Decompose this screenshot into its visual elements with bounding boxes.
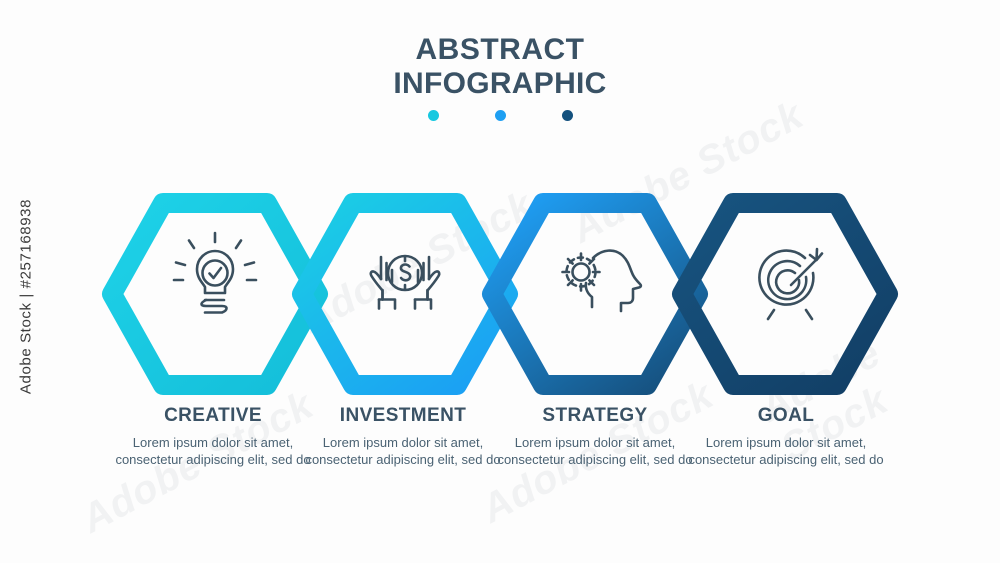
caption-title-investment: INVESTMENT [305,404,501,428]
caption-body-investment: Lorem ipsum dolor sit amet, consectetur … [305,434,501,468]
hexagon-step-4[interactable] [682,203,888,385]
title-dot-row [0,110,1000,121]
title-dot-navy [562,110,573,121]
caption-body-creative: Lorem ipsum dolor sit amet, consectetur … [115,434,311,468]
hexagon-outline-1 [112,203,318,385]
watermark-ghost: Adobe Stock [294,183,541,343]
title-dot-cyan [428,110,439,121]
page-title: ABSTRACT INFOGRAPHIC [0,33,1000,121]
title-line-secondary: INFOGRAPHIC [0,67,1000,101]
caption-row: CREATIVE Lorem ipsum dolor sit amet, con… [0,404,1000,514]
hexagon-step-2[interactable] [302,203,508,385]
caption-body-goal: Lorem ipsum dolor sit amet, consectetur … [688,434,884,468]
title-line-primary: ABSTRACT [0,33,1000,67]
hexagon-outline-4 [682,203,888,385]
caption-title-strategy: STRATEGY [497,404,693,428]
caption-step-4: GOAL Lorem ipsum dolor sit amet, consect… [688,404,884,468]
caption-step-2: INVESTMENT Lorem ipsum dolor sit amet, c… [305,404,501,468]
hexagon-step-1[interactable] [112,203,318,385]
target-arrow-icon [759,249,822,319]
hexagon-step-3[interactable] [492,203,698,385]
hexagon-outline-2 [302,203,508,385]
lightbulb-check-icon [174,233,256,313]
title-dot-blue [495,110,506,121]
caption-body-strategy: Lorem ipsum dolor sit amet, consectetur … [497,434,693,468]
caption-step-3: STRATEGY Lorem ipsum dolor sit amet, con… [497,404,693,468]
hexagon-outline-3 [492,203,698,385]
stock-credit-watermark: Adobe Stock | #257168938 [18,167,35,427]
caption-title-goal: GOAL [688,404,884,428]
caption-title-creative: CREATIVE [115,404,311,428]
hands-coin-dollar-icon [371,256,439,309]
head-gear-icon [563,251,641,311]
caption-step-1: CREATIVE Lorem ipsum dolor sit amet, con… [115,404,311,468]
infographic-canvas: Adobe Stock Adobe Stock Adobe Stock Adob… [0,0,1000,563]
